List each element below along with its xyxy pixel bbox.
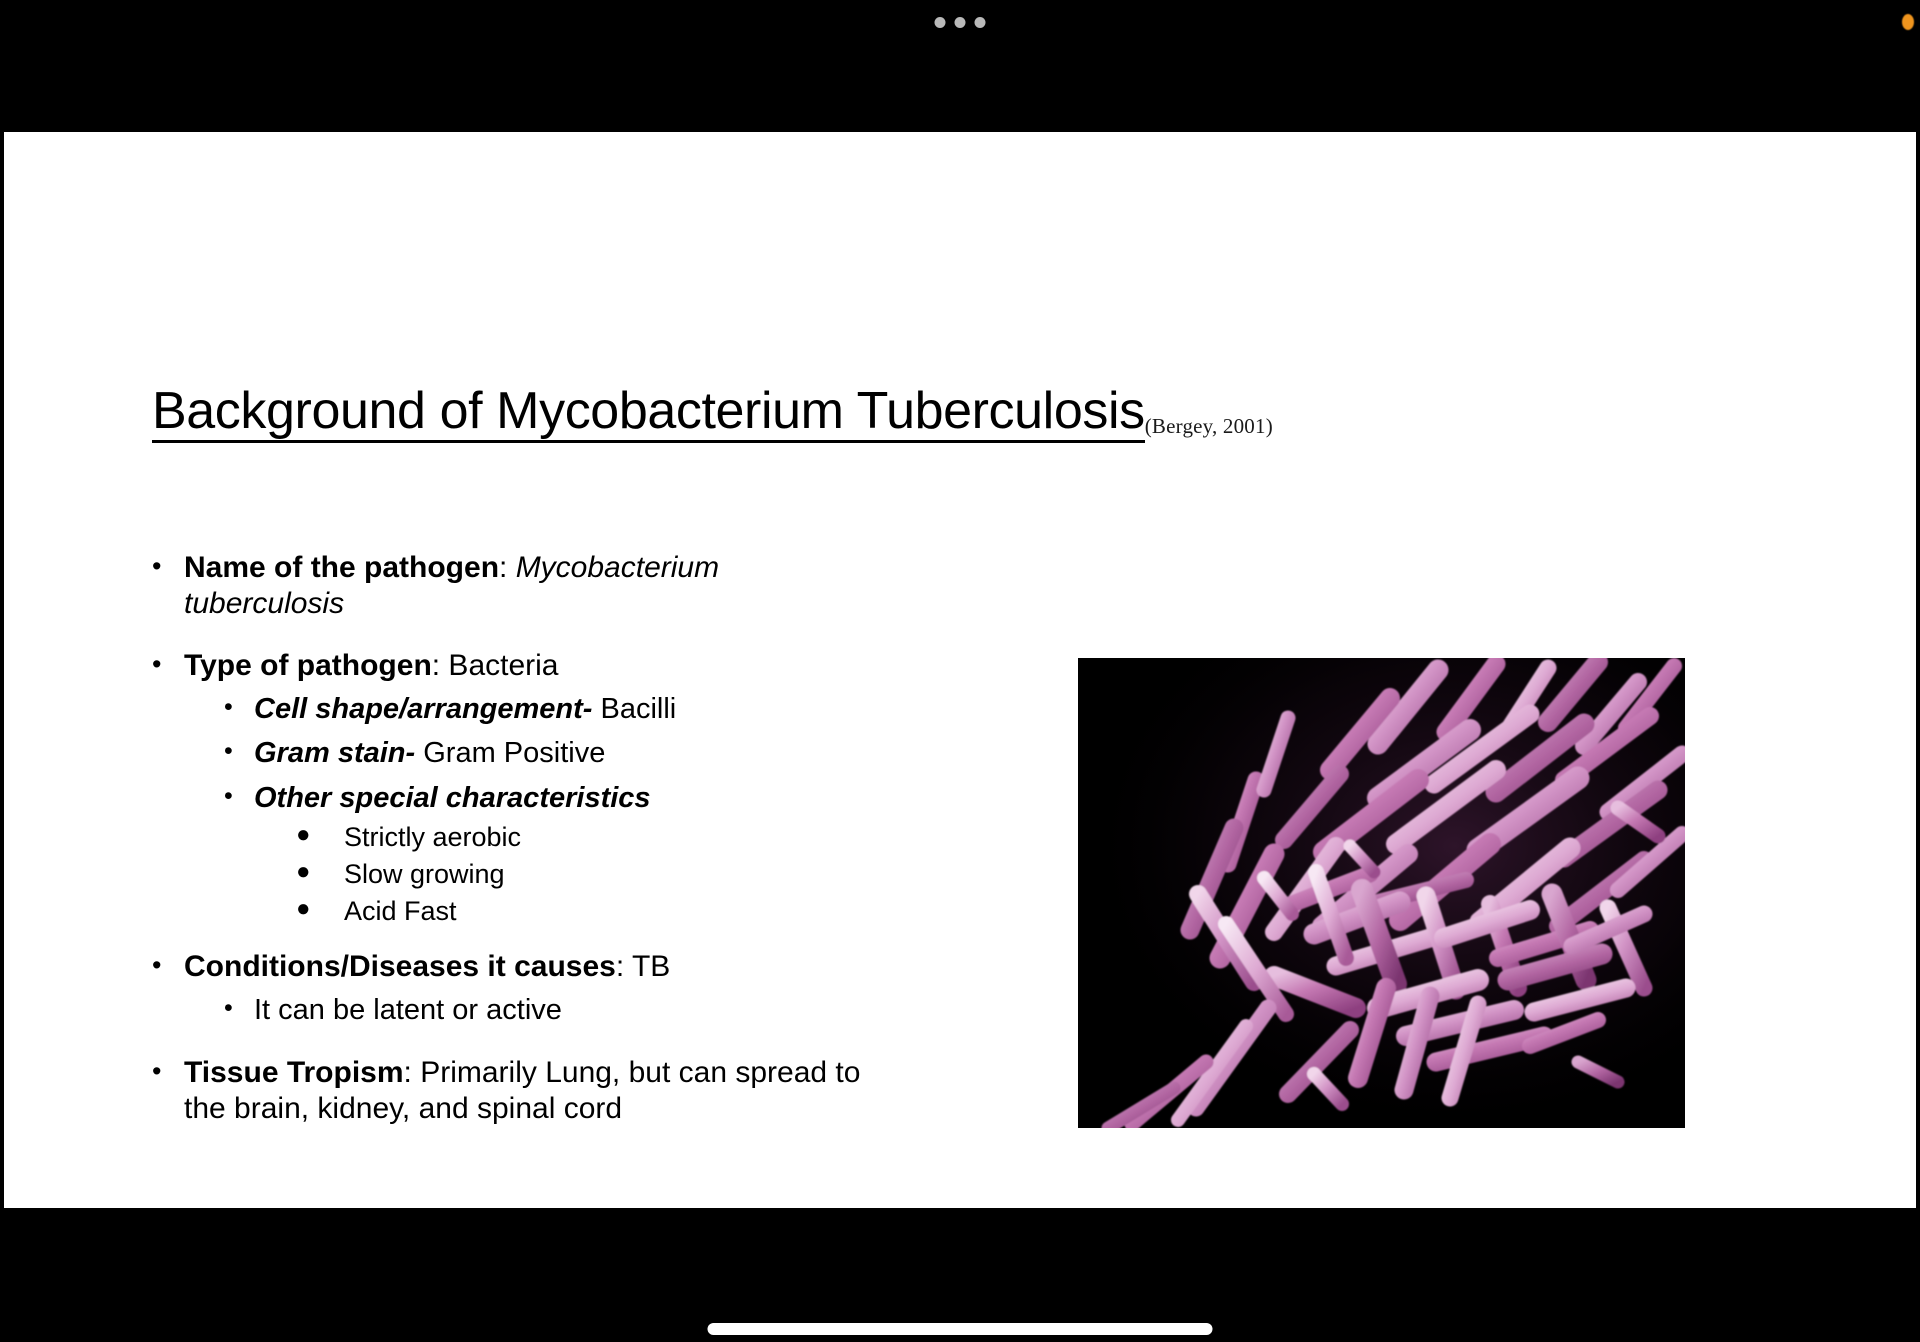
slide-title-text: Background of Mycobacterium Tuberculosis bbox=[152, 385, 1145, 443]
window-controls[interactable] bbox=[935, 17, 986, 28]
bullet-text: Conditions/Diseases it causes: TB bbox=[184, 949, 882, 985]
bullet-text: Tissue Tropism: Primarily Lung, but can … bbox=[184, 1055, 882, 1127]
bullet-text: It can be latent or active bbox=[254, 993, 882, 1028]
bullet-marker-icon: • bbox=[224, 993, 254, 1024]
bullet-text: Gram stain- Gram Positive bbox=[254, 736, 882, 771]
bullet-value: Gram Positive bbox=[415, 737, 605, 769]
bullet-item-other-characteristics: • Other special characteristics bbox=[224, 781, 882, 816]
window-chrome-top bbox=[0, 0, 1920, 132]
bullet-item-tissue-tropism: • Tissue Tropism: Primarily Lung, but ca… bbox=[152, 1055, 882, 1127]
bullet-item-type-of-pathogen: • Type of pathogen: Bacteria bbox=[152, 648, 882, 684]
bullet-separator: : bbox=[499, 551, 516, 584]
window-chrome-bottom bbox=[0, 1208, 1920, 1342]
presentation-slide[interactable]: Background of Mycobacterium Tuberculosis… bbox=[4, 132, 1916, 1208]
slide-title-citation: (Bergey, 2001) bbox=[1145, 414, 1273, 443]
window-dot-1-icon[interactable] bbox=[935, 17, 946, 28]
bullet-value: Bacilli bbox=[592, 693, 676, 725]
bullet-label: Name of the pathogen bbox=[184, 551, 499, 584]
bullet-item-slow-growing: ● Slow growing bbox=[296, 857, 882, 892]
bullet-text: Strictly aerobic bbox=[344, 820, 882, 855]
bullet-marker-icon: • bbox=[152, 1055, 184, 1088]
bullet-item-gram-stain: • Gram stain- Gram Positive bbox=[224, 736, 882, 771]
bullet-marker-icon: • bbox=[224, 781, 254, 812]
window-dot-2-icon[interactable] bbox=[955, 17, 966, 28]
app-viewport: Background of Mycobacterium Tuberculosis… bbox=[0, 0, 1920, 1342]
bullet-text: Type of pathogen: Bacteria bbox=[184, 648, 882, 684]
bullet-value: : TB bbox=[616, 950, 670, 983]
window-dot-3-icon[interactable] bbox=[975, 17, 986, 28]
slide-title: Background of Mycobacterium Tuberculosis… bbox=[152, 385, 1273, 443]
micrograph-illustration bbox=[1078, 658, 1685, 1128]
status-indicator-icon bbox=[1902, 14, 1914, 30]
bullet-label: Gram stain- bbox=[254, 737, 415, 769]
slide-body: • Name of the pathogen: Mycobacterium tu… bbox=[152, 550, 882, 1141]
bullet-marker-icon: ● bbox=[296, 857, 344, 888]
bullet-marker-icon: ● bbox=[296, 894, 344, 925]
bullet-marker-icon: • bbox=[152, 550, 184, 583]
bullet-text: Acid Fast bbox=[344, 894, 882, 929]
bullet-marker-icon: • bbox=[152, 648, 184, 681]
home-indicator[interactable] bbox=[708, 1323, 1213, 1335]
bullet-label: Other special characteristics bbox=[254, 782, 651, 814]
bullet-label: Tissue Tropism bbox=[184, 1056, 404, 1089]
bullet-label: Cell shape/arrangement- bbox=[254, 693, 592, 725]
bullet-marker-icon: • bbox=[152, 949, 184, 982]
bullet-text: Cell shape/arrangement- Bacilli bbox=[254, 692, 882, 727]
bullet-label: Conditions/Diseases it causes bbox=[184, 950, 616, 983]
bullet-item-conditions-diseases: • Conditions/Diseases it causes: TB bbox=[152, 949, 882, 985]
bullet-label: Type of pathogen bbox=[184, 649, 432, 682]
bullet-text: Other special characteristics bbox=[254, 781, 882, 816]
bullet-item-strictly-aerobic: ● Strictly aerobic bbox=[296, 820, 882, 855]
bullet-marker-icon: • bbox=[224, 736, 254, 767]
bullet-item-name-of-pathogen: • Name of the pathogen: Mycobacterium tu… bbox=[152, 550, 882, 622]
bullet-value: : Bacteria bbox=[432, 649, 559, 682]
bullet-item-latent-or-active: • It can be latent or active bbox=[224, 993, 882, 1028]
bullet-item-cell-shape: • Cell shape/arrangement- Bacilli bbox=[224, 692, 882, 727]
bullet-item-acid-fast: ● Acid Fast bbox=[296, 894, 882, 929]
bullet-text: Slow growing bbox=[344, 857, 882, 892]
bullet-text: Name of the pathogen: Mycobacterium tube… bbox=[184, 550, 882, 622]
bullet-marker-icon: • bbox=[224, 692, 254, 723]
mycobacterium-tuberculosis-micrograph[interactable] bbox=[1078, 658, 1685, 1128]
bullet-marker-icon: ● bbox=[296, 820, 344, 851]
